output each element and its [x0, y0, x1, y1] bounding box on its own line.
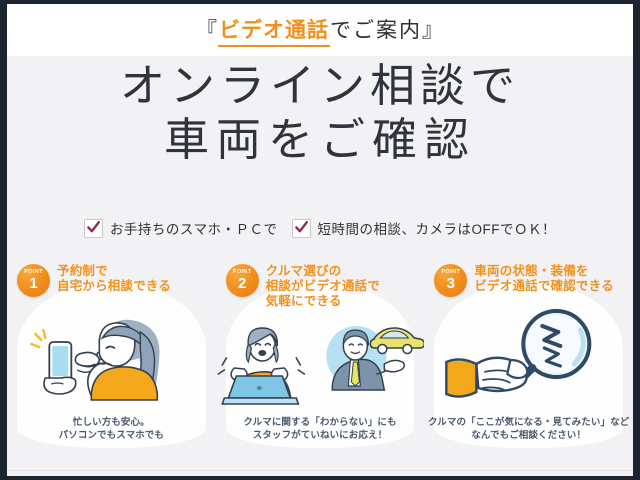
point-header-3: POINT 3 車両の状態・装備を ビデオ通話で確認できる — [424, 256, 633, 297]
point-badge-2: POINT 2 — [226, 264, 259, 297]
header-bracket-open: 『 — [196, 14, 218, 44]
point-badge-3: POINT 3 — [434, 264, 467, 297]
header-strip: 『 ビデオ通話 でご案内 』 — [7, 4, 633, 56]
point-column-1: POINT 1 予約制で 自宅から相談できる — [7, 256, 216, 456]
point-title-2: クルマ選びの 相談がビデオ通話で 気軽にできる — [266, 263, 380, 309]
point-title-line: 車両の状態・装備を — [474, 264, 613, 279]
badge-number: 3 — [447, 276, 455, 291]
point-header-2: POINT 2 クルマ選びの 相談がビデオ通話で 気軽にできる — [216, 256, 425, 309]
caption-line: 忙しい方も安心。 — [7, 416, 216, 429]
banner-frame: 『 ビデオ通話 でご案内 』 オンライン相談で 車両をご確認 お手持ちのスマホ・… — [7, 4, 633, 476]
check-list: お手持ちのスマホ・ＰＣで 短時間の相談、カメラはOFFでＯＫ！ — [7, 218, 633, 238]
page-title: オンライン相談で 車両をご確認 — [7, 58, 633, 168]
check-item-2: 短時間の相談、カメラはOFFでＯＫ！ — [292, 218, 557, 238]
point-header-1: POINT 1 予約制で 自宅から相談できる — [7, 256, 216, 297]
headline-line-1: オンライン相談で — [7, 58, 633, 114]
illustration-hand-with-magnifying-glass — [424, 302, 633, 408]
check-label-2: 短時間の相談、カメラはOFFでＯＫ！ — [318, 218, 557, 238]
point-title-line: 自宅から相談できる — [57, 279, 171, 294]
header-bracket-close: 』 — [422, 14, 444, 44]
check-item-1: お手持ちのスマホ・ＰＣで — [84, 218, 278, 238]
point-title-1: 予約制で 自宅から相談できる — [57, 263, 171, 294]
point-badge-1: POINT 1 — [17, 264, 50, 297]
bottom-divider — [9, 470, 631, 471]
illustration-woman-with-smartphone — [7, 300, 216, 412]
caption-line: パソコンでもスマホでも — [7, 429, 216, 442]
header-accent-text: ビデオ通話 — [218, 14, 330, 47]
point-title-line: 相談がビデオ通話で — [266, 279, 380, 294]
point-caption-2: クルマに関する「わからない」にも スタッフがていねいにお応え！ — [216, 416, 425, 442]
point-column-3: POINT 3 車両の状態・装備を ビデオ通話で確認できる — [424, 256, 633, 456]
points-section: POINT 1 予約制で 自宅から相談できる — [7, 256, 633, 456]
check-icon — [292, 219, 311, 238]
point-title-line: 気軽にできる — [266, 294, 380, 309]
point-caption-1: 忙しい方も安心。 パソコンでもスマホでも — [7, 416, 216, 442]
point-column-2: POINT 2 クルマ選びの 相談がビデオ通話で 気軽にできる — [216, 256, 425, 456]
caption-line: クルマに関する「わからない」にも — [216, 416, 425, 429]
caption-line: スタッフがていねいにお応え！ — [216, 429, 425, 442]
check-icon — [84, 219, 103, 238]
badge-number: 1 — [29, 276, 37, 291]
header-plain-text: でご案内 — [330, 14, 422, 44]
caption-line: なんでもご相談ください！ — [424, 429, 633, 442]
point-title-line: 予約制で — [57, 264, 171, 279]
caption-line: クルマの「ここが気になる・見てみたい」など — [424, 416, 633, 429]
point-title-line: ビデオ通話で確認できる — [474, 279, 613, 294]
point-title-line: クルマ選びの — [266, 264, 380, 279]
headline-line-2: 車両をご確認 — [7, 112, 633, 168]
badge-number: 2 — [238, 276, 246, 291]
header-title: 『 ビデオ通話 でご案内 』 — [196, 14, 444, 47]
point-caption-3: クルマの「ここが気になる・見てみたい」など なんでもご相談ください！ — [424, 416, 633, 442]
check-label-1: お手持ちのスマホ・ＰＣで — [110, 218, 278, 238]
illustration-woman-laptop-and-staff-with-car — [216, 312, 425, 412]
point-title-3: 車両の状態・装備を ビデオ通話で確認できる — [474, 263, 613, 294]
